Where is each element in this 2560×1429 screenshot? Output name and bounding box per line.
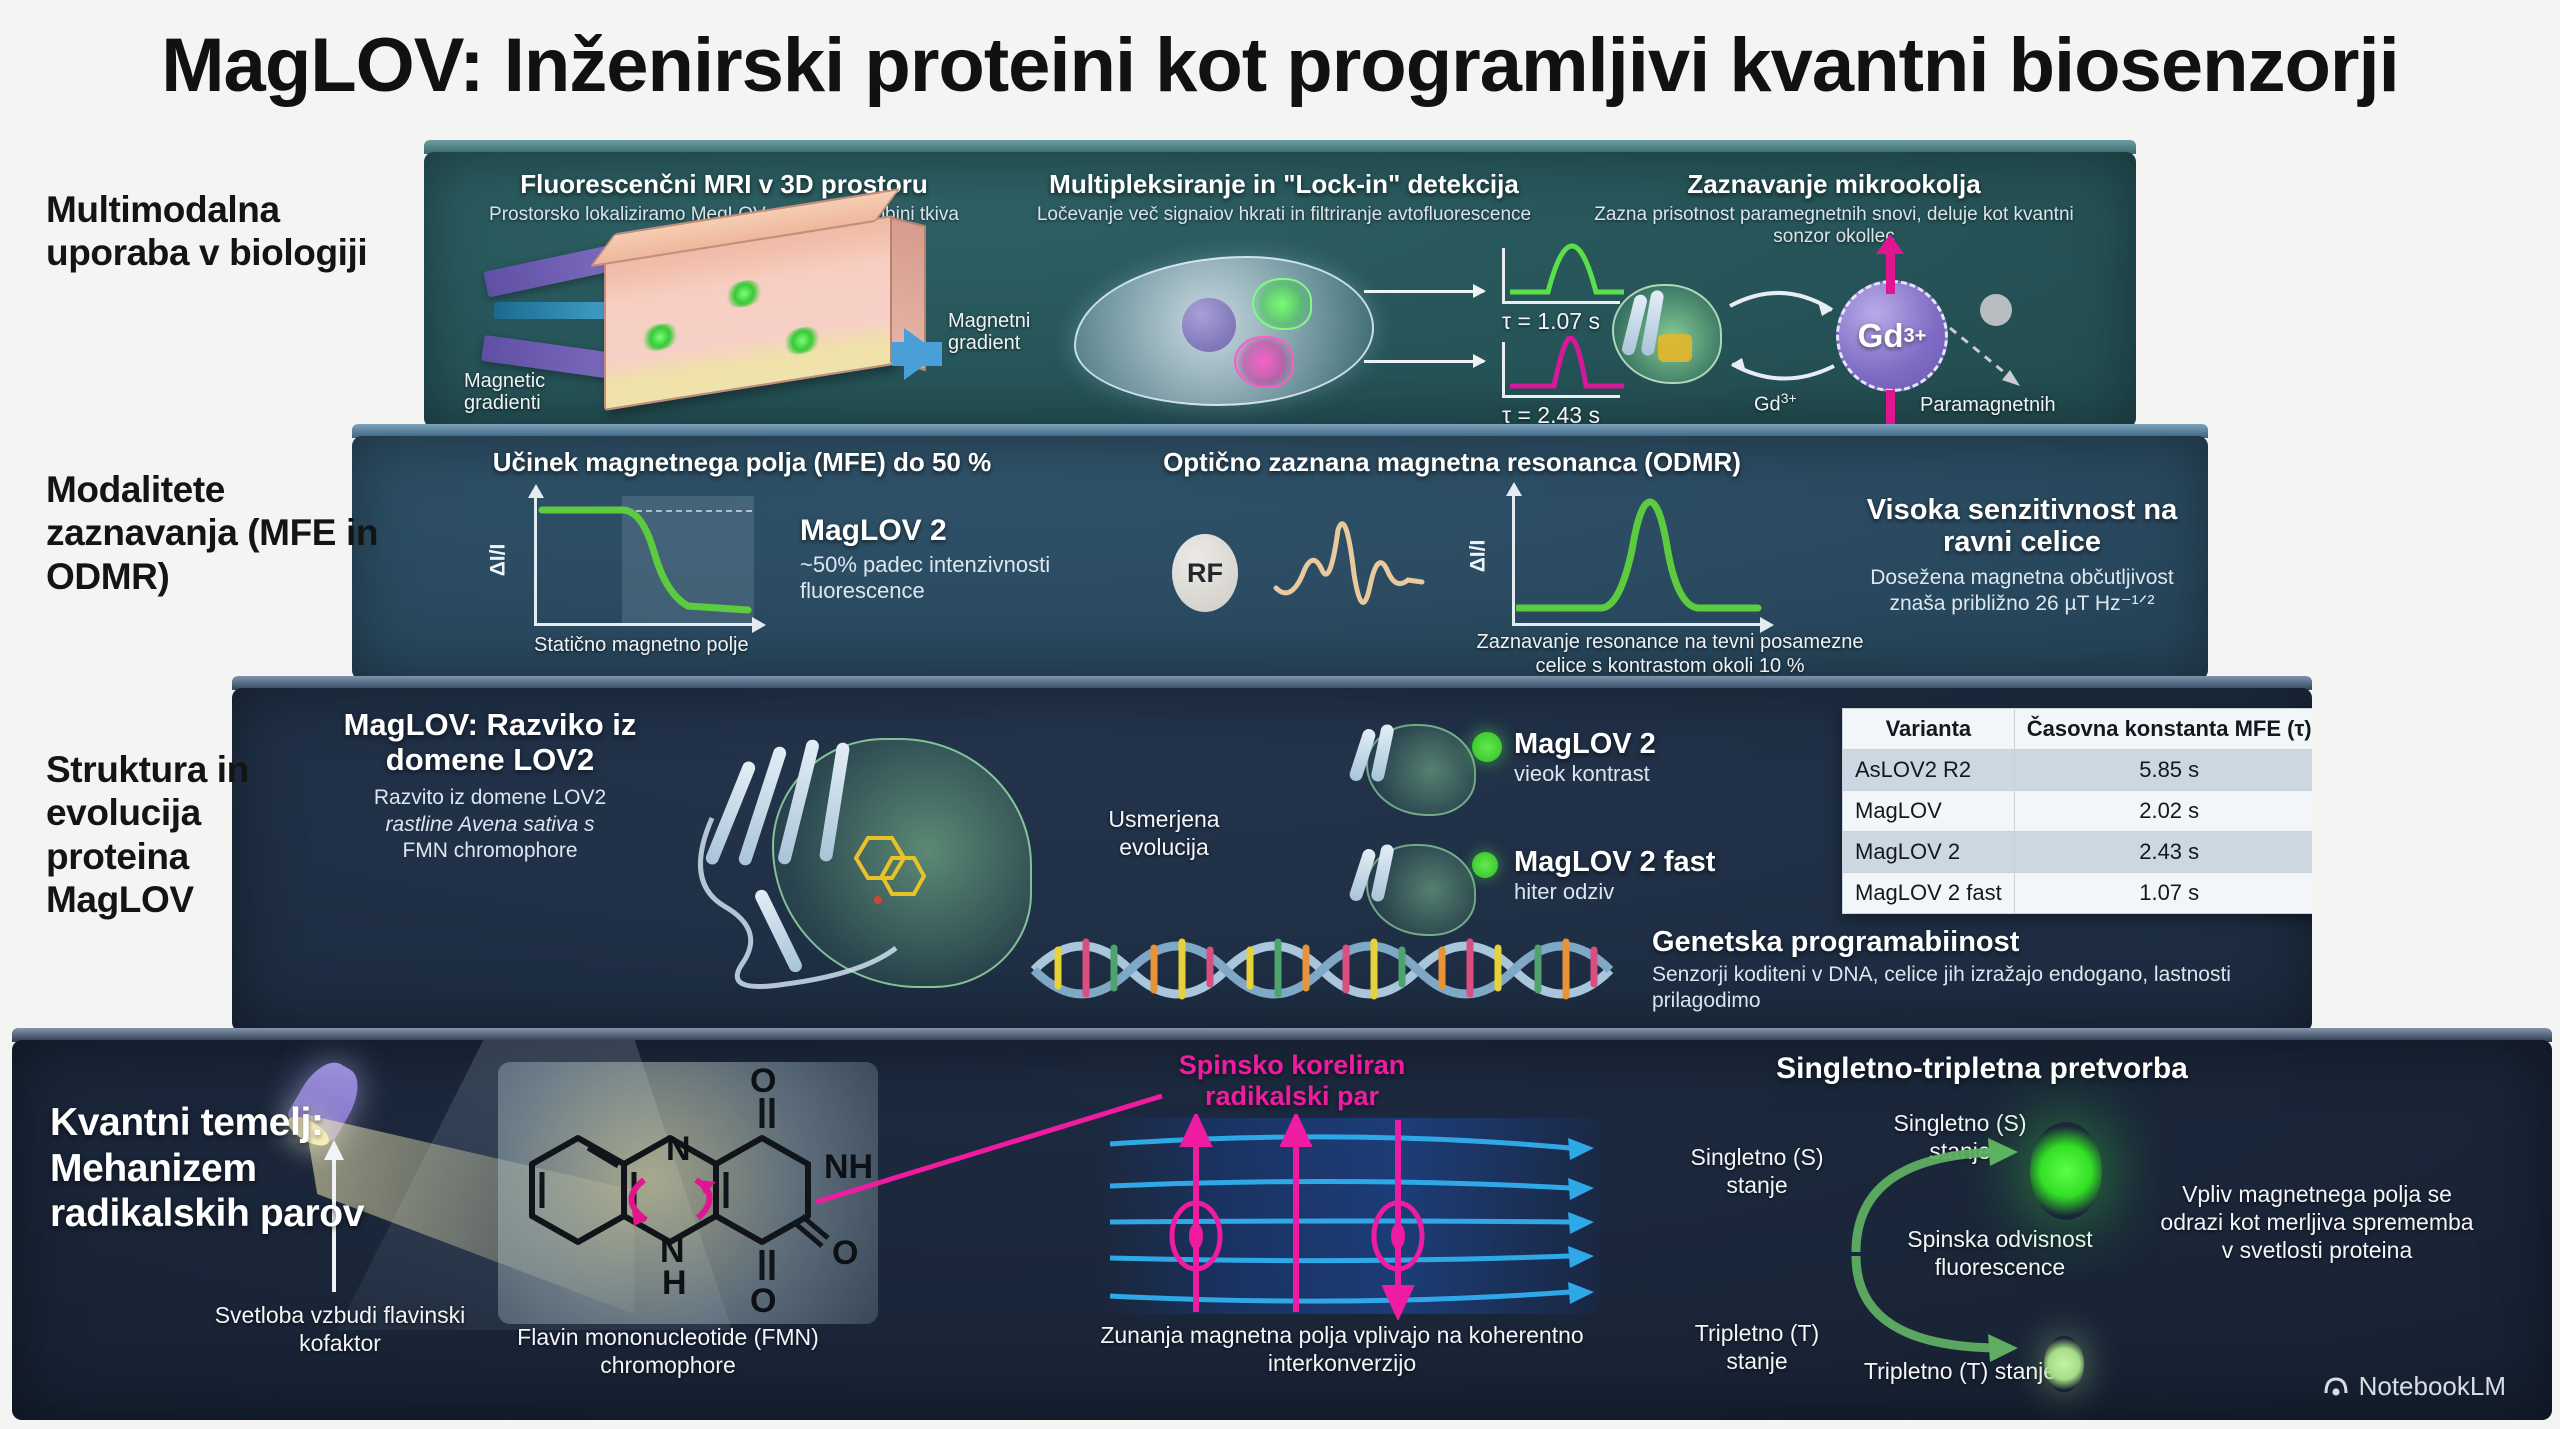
genetic-programmability-title: Genetska programabiinost: [1652, 926, 2272, 959]
lifetime-trace-green: [1502, 248, 1620, 304]
panel-microenvironment-subtitle: Zazna prisotnost paramegnetnih snovi, de…: [1594, 204, 2074, 250]
sensitivity-callout-title: Visoka senzitivnost na ravni celice: [1852, 494, 2192, 559]
svg-text:H: H: [662, 1264, 687, 1302]
panel-multiplexing-subtitle: Ločevanje več signaiov hkrati in filtrir…: [1014, 204, 1554, 227]
tier-2-label: Modalitete zaznavanja (MFE in ODMR): [46, 468, 386, 598]
labeled-cell-glow: [782, 324, 822, 356]
fmn-cofactor-icon: [844, 830, 934, 920]
table-row: MagLOV 2.02 s Srednja: [1843, 791, 2313, 832]
svg-text:O: O: [750, 1282, 776, 1320]
directed-evolution-label: Usmerjena evolucija: [1084, 806, 1244, 861]
panel-multiplexing: Multipleksiranje in "Lock-in" detekcija …: [1014, 170, 1554, 226]
rf-waveform-icon: [1272, 514, 1472, 632]
panel-microenvironment: Zaznavanje mikrookolja Zazna prisotnost …: [1594, 170, 2074, 249]
trace-link-arrow-green: [1364, 290, 1484, 293]
sensitivity-callout-sub: Dosežena magnetna občutljivost znaša pri…: [1852, 565, 2192, 618]
radical-pair-label: Spinsko koreliran radikalski par: [1152, 1050, 1432, 1112]
magnetic-field-lines-icon: [1100, 1114, 1610, 1320]
maglov-protein-icon: [1612, 284, 1722, 384]
mfe-title: Učinek magnetnega polja (MFE) do 50 %: [462, 448, 1022, 477]
dashed-diffusion-arrow-icon: [1944, 322, 2044, 402]
dim-fluorescence-glow: [2044, 1336, 2084, 1392]
genetic-programmability-block: Genetska programabiinost Senzorji kodite…: [1652, 926, 2272, 1015]
table-row: AsLOV2 R2 5.85 s Nizka: [1843, 750, 2313, 791]
table-cell-variant: AsLOV2 R2: [1843, 750, 2015, 791]
mfe-y-axis-label: ΔI/I: [486, 544, 510, 577]
tier-3-panel: MagLOV: Razviko iz domene LOV2 Razvito i…: [232, 688, 2312, 1032]
table-row: MagLOV 2 2.43 s Visoka (~50%): [1843, 832, 2313, 873]
tier-4-label: Kvantni temelj: Mehanizem radikalskih pa…: [50, 1100, 450, 1237]
tier-2-face: Učinek magnetnega polja (MFE) do 50 % ΔI…: [352, 436, 2208, 680]
variant-name: MagLOV 2: [1514, 728, 1814, 761]
mfe-chart: [534, 496, 754, 626]
variant-name: MagLOV 2 fast: [1514, 846, 1834, 879]
svg-text:O: O: [832, 1234, 858, 1272]
table-row: MagLOV 2 fast 1.07 s Srednja: [1843, 873, 2313, 914]
magnetic-gradients-label: Magnetic gradienti: [464, 370, 594, 415]
paramagnetic-up-arrow-icon: [1886, 252, 1895, 294]
tier-1-label: Multimodalna uporaba v biologiji: [46, 188, 406, 275]
tau-label-green: τ = 1.07 s: [1502, 308, 1600, 335]
singlet-triplet-title: Singletno-tripletna pretvorba: [1702, 1052, 2262, 1086]
table-header-cell: Časovna konstanta MFE (τ): [2014, 709, 2312, 750]
paramagnetic-label: Paramagnetnih: [1920, 394, 2056, 417]
maglov-structure-illustration: [652, 718, 1072, 1008]
table-cell-variant: MagLOV 2: [1843, 832, 2015, 873]
gd-ion-charge: 3+: [1904, 325, 1927, 348]
variant-comparison-table: Varianta Časovna konstanta MFE (τ) Velik…: [1842, 708, 2312, 914]
tier-3-face: MagLOV: Razviko iz domene LOV2 Razvito i…: [232, 688, 2312, 1032]
tier-1-face: Fluorescenčni MRI v 3D prostoru Prostors…: [424, 152, 2136, 428]
fluorescence-dot-bright: [1472, 732, 1502, 762]
magnetic-gradient-arrow-label: Magnetni gradient: [948, 310, 1088, 355]
tier-1-panel: Fluorescenčni MRI v 3D prostoru Prostors…: [424, 152, 2136, 428]
nucleus-icon: [1182, 298, 1236, 352]
tier-2-panel: Učinek magnetnega polja (MFE) do 50 % ΔI…: [352, 436, 2208, 680]
gadolinium-ion-icon: Gd3+: [1836, 280, 1948, 392]
mfe-callout-title: MagLOV 2: [800, 514, 1080, 548]
rf-chip-icon: RF: [1172, 534, 1238, 612]
variant-icon-maglov2: [1322, 714, 1492, 824]
bright-fluorescence-glow: [2030, 1122, 2102, 1220]
mfe-curve-icon: [538, 496, 754, 626]
exchange-arrows-icon: [1724, 280, 1844, 390]
genetic-programmability-sub: Senzorji koditeni v DNA, celice jih izra…: [1652, 962, 2272, 1015]
table-cell-variant: MagLOV: [1843, 791, 2015, 832]
origin-line-3: FMN chromophore: [402, 839, 577, 862]
table-cell-tau: 5.85 s: [2014, 750, 2312, 791]
table-cell-tau: 2.02 s: [2014, 791, 2312, 832]
field-caption: Zunanja magnetna polja vplivajo na koher…: [1042, 1322, 1642, 1377]
dna-helix-icon: [1030, 922, 1630, 1018]
odmr-chart: [1512, 494, 1762, 626]
variant-label-maglov2fast: MagLOV 2 fast hiter odziv: [1514, 846, 1834, 905]
variant-note: hiter odziv: [1514, 879, 1834, 905]
fmn-cofactor-icon: [1658, 334, 1692, 362]
odmr-y-axis: [1512, 494, 1515, 626]
magenta-protein-blob: [1234, 336, 1294, 388]
page-title: MagLOV: Inženirski proteini kot programl…: [0, 22, 2560, 109]
light-excitation-caption: Svetloba vzbudi flavinski kofaktor: [210, 1302, 470, 1357]
variant-label-maglov2: MagLOV 2 vieok kontrast: [1514, 728, 1814, 787]
mfe-callout-sub: ~50% padec intenzivnosti fluorescence: [800, 552, 1080, 605]
tissue-block-illustration: [604, 215, 894, 411]
labeled-cell-glow: [724, 278, 764, 310]
odmr-caption: Zaznavanje resonance na tevni posamezne …: [1460, 630, 1880, 678]
table-cell-tau: 2.43 s: [2014, 832, 2312, 873]
right-triplet-label: Tripletno (T) stanje: [1860, 1358, 2060, 1386]
table-header-cell: Varianta: [1843, 709, 2015, 750]
sensitivity-callout: Visoka senzitivnost na ravni celice Dose…: [1852, 494, 2192, 617]
notebooklm-logo-icon: [2322, 1373, 2350, 1401]
trace-link-arrow-magenta: [1364, 360, 1484, 363]
fluorescence-dot-bright: [1472, 852, 1498, 878]
mfe-y-axis: [534, 496, 537, 626]
gd-side-label: Gd3+: [1754, 390, 1797, 417]
fmn-caption: Flavin mononucleotide (FMN) chromophore: [468, 1324, 868, 1379]
mfe-x-axis-label: Statično magnetno polje: [534, 634, 749, 657]
odmr-y-axis-label: ΔI/I: [1466, 540, 1490, 573]
table-header-row: Varianta Časovna konstanta MFE (τ) Velik…: [1843, 709, 2313, 750]
lifetime-trace-magenta: [1502, 342, 1620, 398]
origin-line-1: Razvito iz domene LOV2: [374, 786, 606, 809]
magnetic-gradient-arrow-icon: [904, 328, 940, 380]
trace-curve-magenta-icon: [1508, 336, 1626, 392]
magnetic-effect-note: Vpliv magnetnega polja se odrazi kot mer…: [2152, 1180, 2482, 1264]
green-protein-blob: [1252, 278, 1312, 330]
svg-text:O: O: [750, 1068, 776, 1100]
odmr-title: Optično zaznana magnetna resonanca (ODMR…: [1092, 448, 1812, 477]
infographic-canvas: MagLOV: Inženirski proteini kot programl…: [0, 0, 2560, 1429]
tier-3-label: Struktura in evolucija proteina MagLOV: [46, 748, 346, 921]
notebooklm-watermark-label: NotebookLM: [2359, 1371, 2506, 1402]
origin-line-2-italic: rastline Avena sativa s: [386, 813, 595, 836]
gd-ion-symbol: Gd: [1858, 317, 1904, 355]
trace-curve-green-icon: [1508, 242, 1626, 298]
paramagnetic-down-arrow-icon: [1886, 390, 1895, 428]
table-cell-tau: 1.07 s: [2014, 873, 2312, 914]
odmr-peak-curve-icon: [1516, 494, 1762, 626]
variant-note: vieok kontrast: [1514, 761, 1814, 787]
panel-microenvironment-title: Zaznavanje mikrookolja: [1594, 170, 2074, 199]
table-cell-variant: MagLOV 2 fast: [1843, 873, 2015, 914]
panel-multiplexing-title: Multipleksiranje in "Lock-in" detekcija: [1014, 170, 1554, 199]
labeled-cell-glow: [640, 321, 680, 353]
notebooklm-watermark: NotebookLM: [2322, 1371, 2506, 1402]
svg-text:N: N: [666, 1130, 691, 1168]
mfe-callout: MagLOV 2 ~50% padec intenzivnosti fluore…: [800, 514, 1080, 605]
panel-fluorescent-mri-title: Fluorescenčni MRI v 3D prostoru: [464, 170, 984, 199]
cell-illustration: [1074, 256, 1374, 406]
